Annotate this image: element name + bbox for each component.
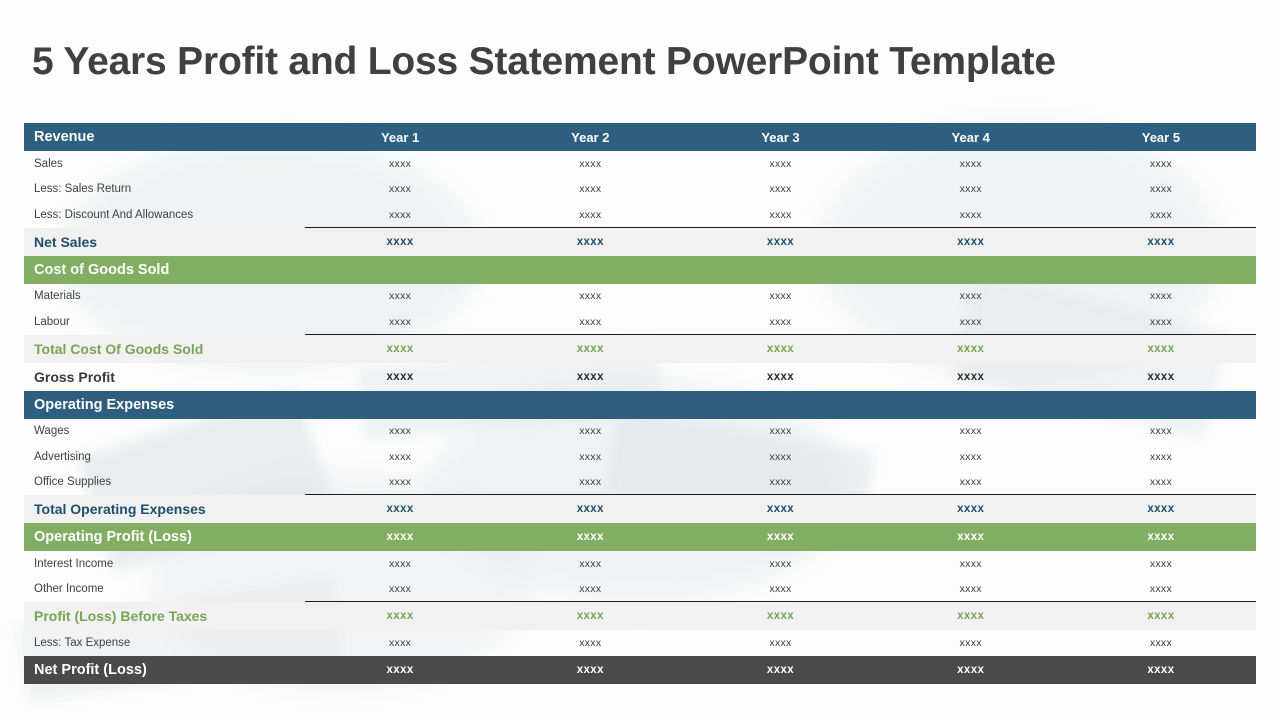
table-total-row: Gross Profitxxxxxxxxxxxxxxxxxxxx (24, 363, 1256, 391)
value-cell: xxxx (685, 316, 875, 328)
value-cell: xxxx (876, 316, 1066, 328)
value-cell: xxxx (876, 425, 1066, 437)
row-label: Materials (24, 290, 305, 302)
value-cell: xxxx (876, 183, 1066, 195)
value-cell: xxxx (305, 637, 495, 649)
row-label: Total Cost Of Goods Sold (24, 341, 305, 357)
row-label: Profit (Loss) Before Taxes (24, 608, 305, 624)
table-total-row: Total Operating Expensesxxxxxxxxxxxxxxxx… (24, 495, 1256, 523)
table-section-row: Cost of Goods Sold (24, 256, 1256, 284)
subtotal-rule (305, 334, 1256, 335)
value-cell: xxxx (305, 664, 495, 676)
value-cell: xxxx (495, 476, 685, 488)
value-cell: xxxx (876, 343, 1066, 355)
row-label: Less: Sales Return (24, 183, 305, 195)
subtotal-rule (305, 601, 1256, 602)
row-label: Total Operating Expenses (24, 501, 305, 517)
table-row: Office Suppliesxxxxxxxxxxxxxxxxxxxx (24, 470, 1256, 496)
value-cell: xxxx (685, 290, 875, 302)
row-label: Less: Discount And Allowances (24, 209, 305, 221)
value-cell: xxxx (685, 664, 875, 676)
value-cell: xxxx (305, 503, 495, 515)
value-cell: xxxx (305, 531, 495, 543)
value-cell: xxxx (1066, 209, 1256, 221)
value-cell: xxxx (1066, 531, 1256, 543)
value-cell: xxxx (495, 558, 685, 570)
value-cell: xxxx (1066, 583, 1256, 595)
value-cell: xxxx (305, 425, 495, 437)
value-cell: xxxx (305, 558, 495, 570)
column-header-4: Year 4 (876, 130, 1066, 145)
value-cell: xxxx (685, 209, 875, 221)
value-cell: xxxx (495, 583, 685, 595)
value-cell: xxxx (876, 558, 1066, 570)
value-cell: xxxx (1066, 158, 1256, 170)
table-row: Materialsxxxxxxxxxxxxxxxxxxxx (24, 284, 1256, 310)
row-label: Gross Profit (24, 369, 305, 385)
row-label: Net Sales (24, 234, 305, 250)
value-cell: xxxx (1066, 664, 1256, 676)
column-header-1: Year 1 (305, 130, 495, 145)
page-title: 5 Years Profit and Loss Statement PowerP… (32, 40, 1056, 84)
value-cell: xxxx (1066, 637, 1256, 649)
value-cell: xxxx (685, 610, 875, 622)
value-cell: xxxx (495, 371, 685, 383)
value-cell: xxxx (1066, 476, 1256, 488)
value-cell: xxxx (495, 236, 685, 248)
value-cell: xxxx (495, 503, 685, 515)
value-cell: xxxx (876, 531, 1066, 543)
value-cell: xxxx (1066, 451, 1256, 463)
value-cell: xxxx (876, 158, 1066, 170)
value-cell: xxxx (305, 610, 495, 622)
value-cell: xxxx (876, 583, 1066, 595)
value-cell: xxxx (1066, 290, 1256, 302)
table-row: Less: Discount And Allowancesxxxxxxxxxxx… (24, 202, 1256, 228)
value-cell: xxxx (495, 343, 685, 355)
row-label: Interest Income (24, 558, 305, 570)
table-highlight-row: Operating Profit (Loss)xxxxxxxxxxxxxxxxx… (24, 523, 1256, 551)
value-cell: xxxx (876, 664, 1066, 676)
table-row: Salesxxxxxxxxxxxxxxxxxxxx (24, 151, 1256, 177)
value-cell: xxxx (495, 664, 685, 676)
table-row: Interest Incomexxxxxxxxxxxxxxxxxxxx (24, 551, 1256, 577)
table-row: Other Incomexxxxxxxxxxxxxxxxxxxx (24, 577, 1256, 603)
value-cell: xxxx (876, 290, 1066, 302)
column-header-2: Year 2 (495, 130, 685, 145)
value-cell: xxxx (495, 158, 685, 170)
value-cell: xxxx (876, 503, 1066, 515)
value-cell: xxxx (305, 476, 495, 488)
subtotal-rule (305, 227, 1256, 228)
table-total-row: Total Cost Of Goods Soldxxxxxxxxxxxxxxxx… (24, 335, 1256, 363)
value-cell: xxxx (685, 158, 875, 170)
value-cell: xxxx (685, 371, 875, 383)
value-cell: xxxx (305, 236, 495, 248)
row-label: Labour (24, 316, 305, 328)
value-cell: xxxx (1066, 343, 1256, 355)
value-cell: xxxx (305, 183, 495, 195)
table-row: Advertisingxxxxxxxxxxxxxxxxxxxx (24, 444, 1256, 470)
value-cell: xxxx (495, 290, 685, 302)
value-cell: xxxx (1066, 183, 1256, 195)
value-cell: xxxx (495, 425, 685, 437)
table-highlight-row: Net Profit (Loss)xxxxxxxxxxxxxxxxxxxx (24, 656, 1256, 684)
value-cell: xxxx (685, 451, 875, 463)
table-row: Less: Tax Expensexxxxxxxxxxxxxxxxxxxx (24, 630, 1256, 656)
value-cell: xxxx (495, 183, 685, 195)
value-cell: xxxx (685, 236, 875, 248)
column-header-3: Year 3 (685, 130, 875, 145)
row-label: Less: Tax Expense (24, 637, 305, 649)
table-row: Wagesxxxxxxxxxxxxxxxxxxxx (24, 419, 1256, 445)
table-header-row: RevenueYear 1Year 2Year 3Year 4Year 5 (24, 123, 1256, 151)
value-cell: xxxx (1066, 503, 1256, 515)
value-cell: xxxx (876, 371, 1066, 383)
value-cell: xxxx (685, 476, 875, 488)
row-label: Office Supplies (24, 476, 305, 488)
row-label: Other Income (24, 583, 305, 595)
value-cell: xxxx (495, 451, 685, 463)
value-cell: xxxx (685, 531, 875, 543)
row-label: Operating Profit (Loss) (24, 529, 305, 545)
value-cell: xxxx (495, 531, 685, 543)
value-cell: xxxx (1066, 236, 1256, 248)
table-row: Labourxxxxxxxxxxxxxxxxxxxx (24, 309, 1256, 335)
value-cell: xxxx (685, 425, 875, 437)
value-cell: xxxx (685, 343, 875, 355)
value-cell: xxxx (305, 371, 495, 383)
value-cell: xxxx (876, 610, 1066, 622)
value-cell: xxxx (305, 583, 495, 595)
row-label: Sales (24, 158, 305, 170)
value-cell: xxxx (1066, 610, 1256, 622)
slide-canvas: 5 Years Profit and Loss Statement PowerP… (0, 0, 1280, 720)
row-label: Cost of Goods Sold (24, 262, 305, 278)
row-label: Operating Expenses (24, 397, 305, 413)
value-cell: xxxx (876, 637, 1066, 649)
subtotal-rule (305, 494, 1256, 495)
value-cell: xxxx (495, 637, 685, 649)
row-label: Revenue (24, 129, 305, 145)
value-cell: xxxx (305, 158, 495, 170)
value-cell: xxxx (305, 316, 495, 328)
value-cell: xxxx (305, 209, 495, 221)
row-label: Net Profit (Loss) (24, 662, 305, 678)
value-cell: xxxx (1066, 558, 1256, 570)
table-section-row: Operating Expenses (24, 391, 1256, 419)
value-cell: xxxx (305, 343, 495, 355)
value-cell: xxxx (876, 476, 1066, 488)
value-cell: xxxx (876, 209, 1066, 221)
value-cell: xxxx (876, 451, 1066, 463)
value-cell: xxxx (495, 209, 685, 221)
value-cell: xxxx (495, 610, 685, 622)
value-cell: xxxx (685, 503, 875, 515)
row-label: Advertising (24, 451, 305, 463)
value-cell: xxxx (876, 236, 1066, 248)
value-cell: xxxx (305, 451, 495, 463)
table-total-row: Net Salesxxxxxxxxxxxxxxxxxxxx (24, 228, 1256, 256)
value-cell: xxxx (685, 558, 875, 570)
row-label: Wages (24, 425, 305, 437)
value-cell: xxxx (1066, 371, 1256, 383)
column-header-5: Year 5 (1066, 130, 1256, 145)
value-cell: xxxx (495, 316, 685, 328)
table-row: Less: Sales Returnxxxxxxxxxxxxxxxxxxxx (24, 177, 1256, 203)
profit-loss-table: RevenueYear 1Year 2Year 3Year 4Year 5Sal… (24, 123, 1256, 684)
value-cell: xxxx (1066, 316, 1256, 328)
value-cell: xxxx (305, 290, 495, 302)
value-cell: xxxx (685, 183, 875, 195)
value-cell: xxxx (1066, 425, 1256, 437)
value-cell: xxxx (685, 583, 875, 595)
value-cell: xxxx (685, 637, 875, 649)
table-total-row: Profit (Loss) Before Taxesxxxxxxxxxxxxxx… (24, 602, 1256, 630)
